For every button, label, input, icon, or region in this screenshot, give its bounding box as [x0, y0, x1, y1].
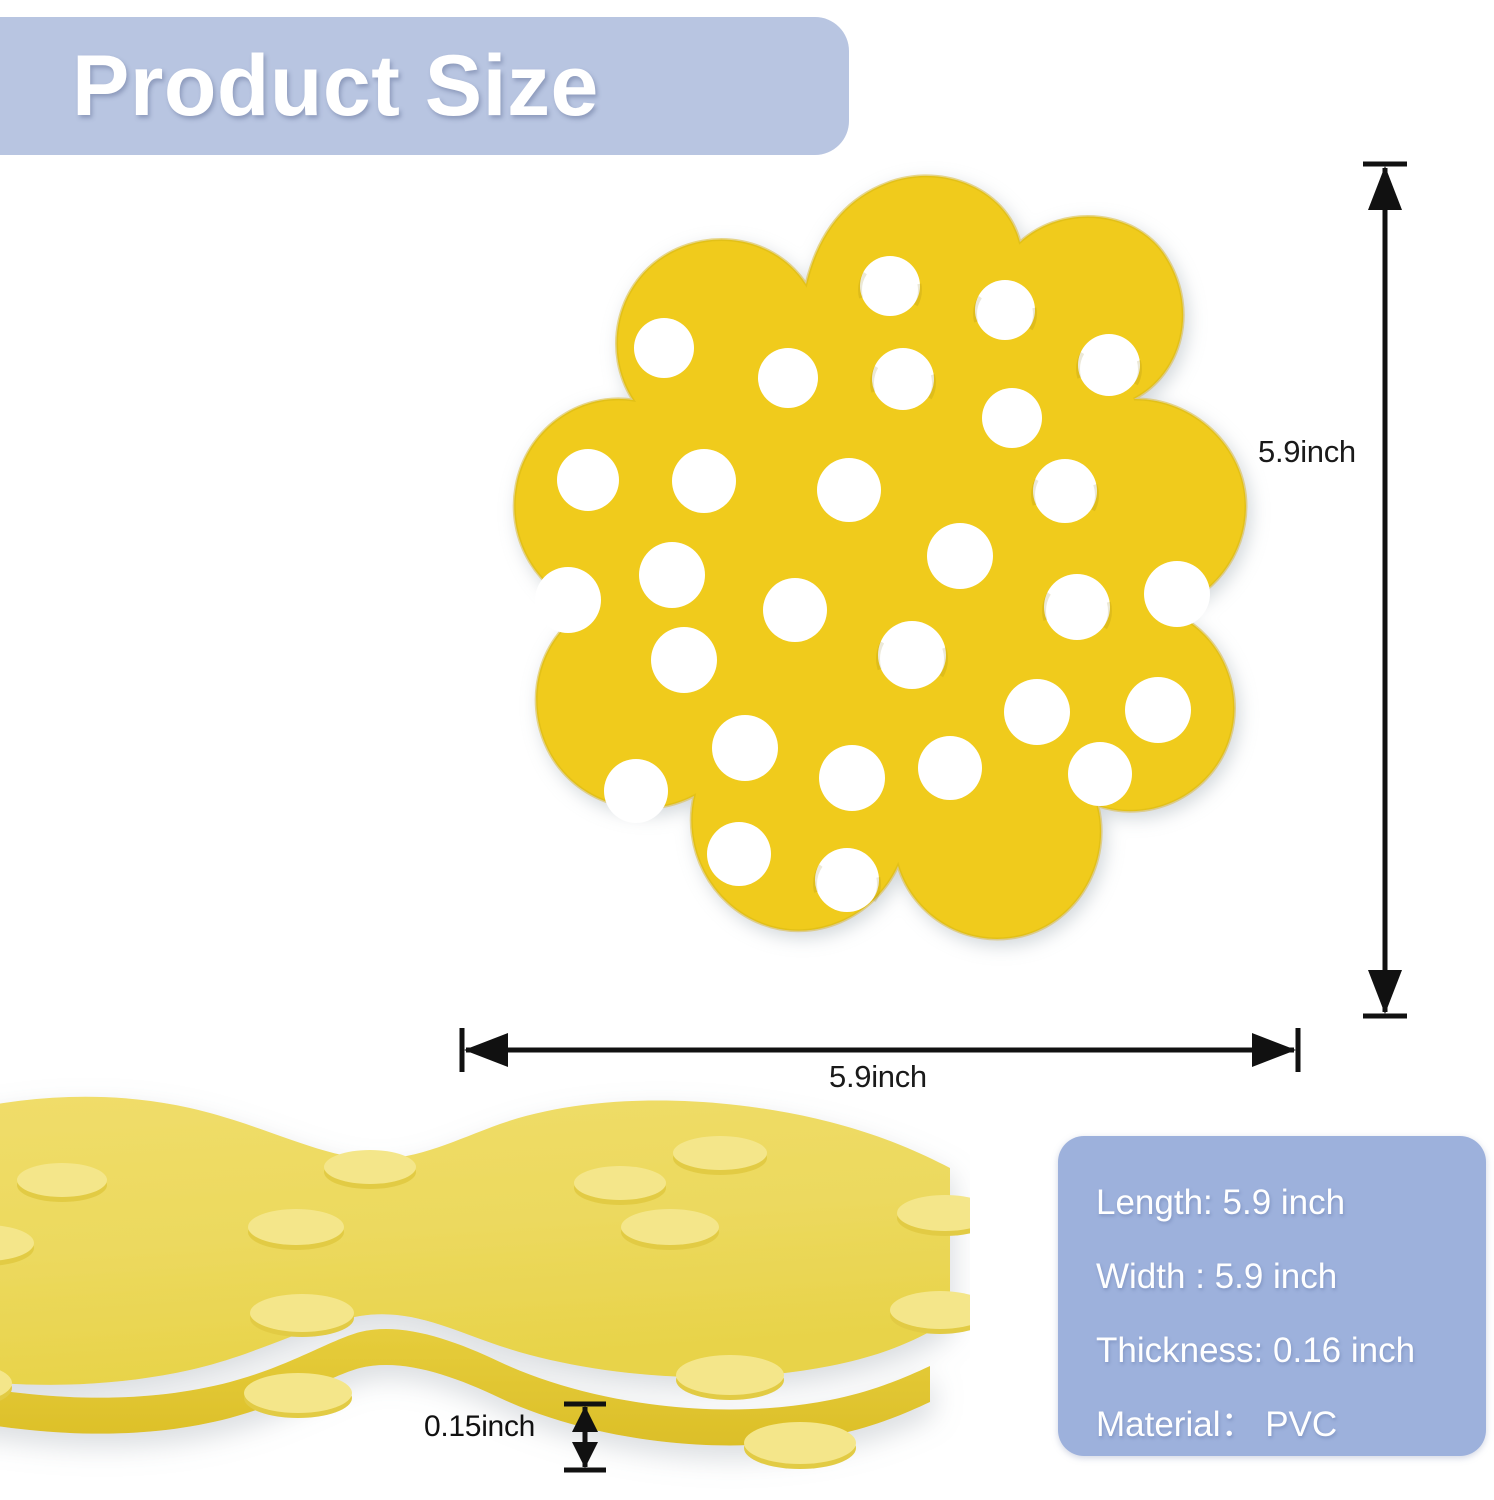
height-dimension-arrow: [1335, 150, 1435, 1030]
page-title: Product Size: [72, 43, 599, 129]
product-size-banner: Product Size: [0, 17, 849, 155]
spec-width: Width : 5.9 inch: [1096, 1240, 1486, 1314]
spec-length: Length: 5.9 inch: [1096, 1166, 1486, 1240]
product-flat-view: [440, 150, 1320, 1030]
product-spec-box: Length: 5.9 inch Width : 5.9 inch Thickn…: [1058, 1136, 1486, 1456]
height-dimension-label: 5.9inch: [1258, 434, 1356, 470]
thickness-dimension-arrow: [558, 1398, 618, 1478]
thickness-dimension-label: 0.15inch: [424, 1410, 535, 1444]
spec-thickness: Thickness: 0.16 inch: [1096, 1314, 1486, 1388]
spec-material: Material： PVC: [1096, 1388, 1486, 1462]
product-flat-illustration: [440, 150, 1320, 1030]
product-body: [514, 176, 1246, 939]
dimension-line-thickness: [558, 1398, 618, 1478]
dimension-line-height: [1335, 150, 1435, 1030]
